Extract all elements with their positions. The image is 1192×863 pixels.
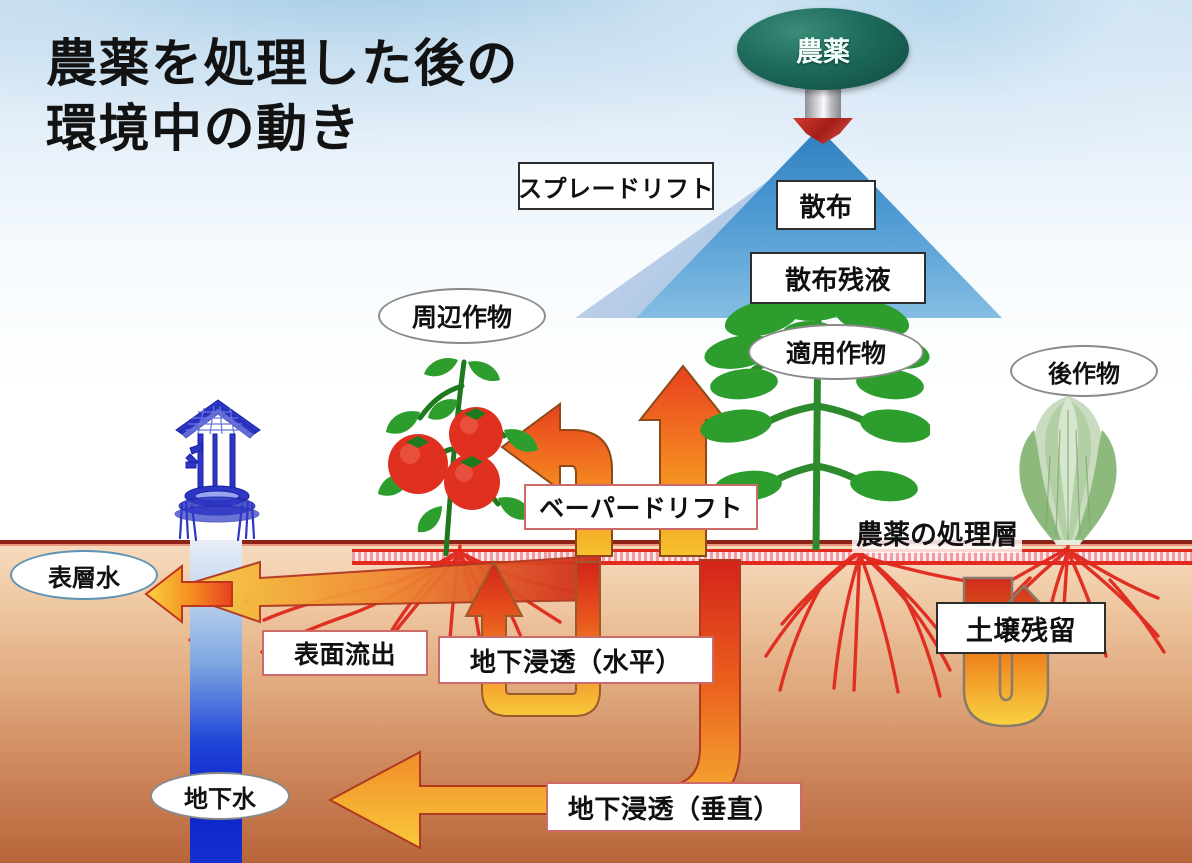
label-infiltration-horizontal: 地下浸透（水平） bbox=[438, 636, 714, 684]
page-title-line2: 環境中の動き bbox=[46, 97, 519, 162]
oval-applied-crop-label: 適用作物 bbox=[786, 334, 886, 370]
label-spray-drift: スプレードリフト bbox=[518, 162, 714, 210]
oval-after-crop: 後作物 bbox=[1010, 345, 1158, 397]
oval-surrounding-crop: 周辺作物 bbox=[378, 288, 546, 344]
pesticide-tank: 農薬 bbox=[737, 8, 909, 90]
oval-surrounding-crop-label: 周辺作物 bbox=[412, 298, 512, 334]
oval-surface-water-label: 表層水 bbox=[48, 558, 120, 593]
label-vapor-drift-text: ベーパードリフト bbox=[539, 489, 743, 525]
label-soil-residue-text: 土壌残留 bbox=[966, 609, 1076, 648]
oval-surface-water: 表層水 bbox=[10, 550, 158, 600]
label-treatment-layer: 農薬の処理層 bbox=[852, 512, 1022, 553]
label-treatment-layer-text: 農薬の処理層 bbox=[856, 520, 1018, 551]
label-spraying-text: 散布 bbox=[799, 187, 852, 224]
label-spray-residue: 散布残液 bbox=[750, 252, 926, 304]
label-infiltration-vertical: 地下浸透（垂直） bbox=[546, 782, 802, 832]
label-surface-runoff: 表面流出 bbox=[262, 630, 428, 676]
label-spray-drift-text: スプレードリフト bbox=[518, 169, 714, 204]
pesticide-tank-label: 農薬 bbox=[796, 30, 850, 69]
label-soil-residue: 土壌残留 bbox=[936, 602, 1106, 654]
pesticide-environment-diagram: 農薬 農薬を処理した後の 環境中の動き bbox=[0, 0, 1192, 863]
oval-groundwater: 地下水 bbox=[150, 772, 290, 820]
label-spray-residue-text: 散布残液 bbox=[785, 260, 891, 297]
water-well-icon bbox=[168, 392, 268, 542]
label-spraying: 散布 bbox=[776, 180, 876, 230]
oval-groundwater-label: 地下水 bbox=[184, 779, 256, 814]
oval-applied-crop: 適用作物 bbox=[748, 324, 924, 380]
tomato-plant-icon bbox=[372, 356, 542, 556]
label-infiltration-vertical-text: 地下浸透（垂直） bbox=[568, 789, 780, 826]
page-title-line1: 農薬を処理した後の bbox=[46, 32, 519, 97]
page-title: 農薬を処理した後の 環境中の動き bbox=[46, 32, 519, 163]
label-surface-runoff-text: 表面流出 bbox=[294, 635, 396, 671]
label-infiltration-horizontal-text: 地下浸透（水平） bbox=[470, 642, 682, 679]
label-vapor-drift: ベーパードリフト bbox=[524, 484, 758, 530]
oval-after-crop-label: 後作物 bbox=[1048, 354, 1120, 389]
